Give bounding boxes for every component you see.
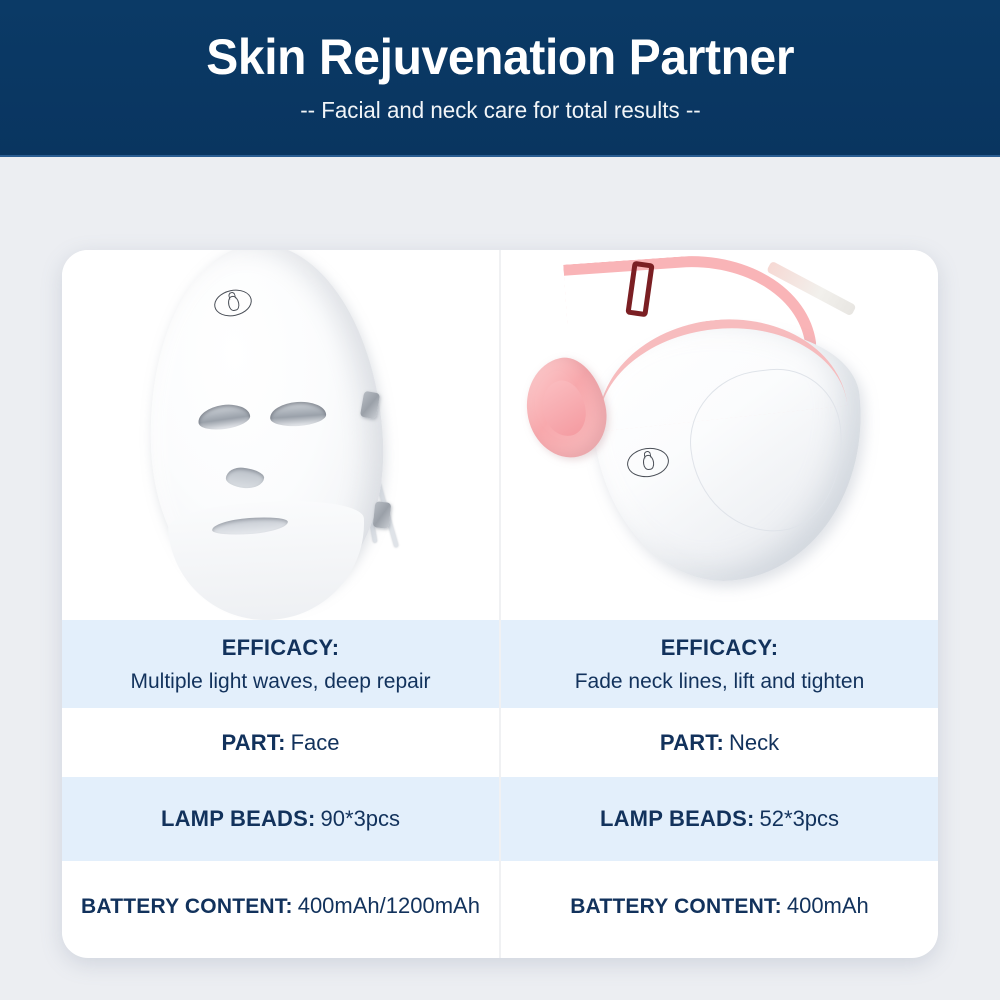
mask-strap-clip-bottom (373, 501, 392, 529)
header-banner: Skin Rejuvenation Partner -- Facial and … (0, 0, 1000, 157)
spec-label-lamp-beads: LAMP BEADS: (161, 806, 316, 831)
spec-row-lamp-beads: LAMP BEADS:52*3pcs (501, 777, 938, 861)
spec-label-lamp-beads: LAMP BEADS: (600, 806, 755, 831)
led-neck-device-photo (501, 250, 938, 620)
finger-touch-glyph (642, 454, 655, 470)
spec-row-part: PART:Face (62, 708, 499, 777)
spec-row-battery-content: BATTERY CONTENT:400mAh/1200mAh (62, 861, 499, 950)
spec-row-lamp-beads: LAMP BEADS:90*3pcs (62, 777, 499, 861)
spec-value-part: Face (291, 730, 340, 755)
spec-list-face-mask: EFFICACY: Multiple light waves, deep rep… (62, 620, 499, 958)
spec-label-efficacy: EFFICACY: (222, 635, 340, 661)
spec-pair-part: PART:Face (221, 730, 339, 756)
spec-value-part: Neck (729, 730, 779, 755)
spec-value-efficacy: Multiple light waves, deep repair (131, 670, 431, 694)
spec-value-battery-content: 400mAh (787, 893, 869, 918)
spec-label-battery-content: BATTERY CONTENT: (570, 895, 782, 918)
product-comparison-card: EFFICACY: Multiple light waves, deep rep… (62, 250, 938, 958)
spec-pair-lamp-beads: LAMP BEADS:52*3pcs (600, 806, 839, 832)
spec-row-efficacy: EFFICACY: Multiple light waves, deep rep… (62, 620, 499, 708)
spec-value-efficacy: Fade neck lines, lift and tighten (575, 670, 865, 694)
page-title: Skin Rejuvenation Partner (206, 31, 794, 84)
spec-pair-battery-content: BATTERY CONTENT:400mAh (570, 893, 869, 919)
product-column-neck-device: EFFICACY: Fade neck lines, lift and tigh… (501, 250, 938, 958)
spec-row-efficacy: EFFICACY: Fade neck lines, lift and tigh… (501, 620, 938, 708)
product-column-face-mask: EFFICACY: Multiple light waves, deep rep… (62, 250, 501, 958)
page-subtitle: -- Facial and neck care for total result… (300, 97, 700, 124)
spec-label-part: PART: (221, 730, 285, 755)
spec-row-battery-content: BATTERY CONTENT:400mAh (501, 861, 938, 950)
spec-list-neck-device: EFFICACY: Fade neck lines, lift and tigh… (501, 620, 938, 958)
spec-value-battery-content: 400mAh/1200mAh (298, 893, 480, 918)
mask-chin (167, 497, 369, 620)
spec-pair-part: PART:Neck (660, 730, 779, 756)
spec-row-part: PART:Neck (501, 708, 938, 777)
spec-label-battery-content: BATTERY CONTENT: (81, 895, 293, 918)
spec-label-efficacy: EFFICACY: (661, 635, 779, 661)
spec-label-part: PART: (660, 730, 724, 755)
spec-pair-battery-content: BATTERY CONTENT:400mAh/1200mAh (81, 893, 480, 919)
spec-value-lamp-beads: 90*3pcs (321, 806, 401, 831)
finger-touch-glyph (226, 295, 240, 312)
led-face-mask-photo (62, 250, 499, 620)
face-mask-illustration (62, 250, 499, 620)
neck-device-illustration (501, 250, 938, 620)
spec-value-lamp-beads: 52*3pcs (760, 806, 840, 831)
spec-pair-lamp-beads: LAMP BEADS:90*3pcs (161, 806, 400, 832)
